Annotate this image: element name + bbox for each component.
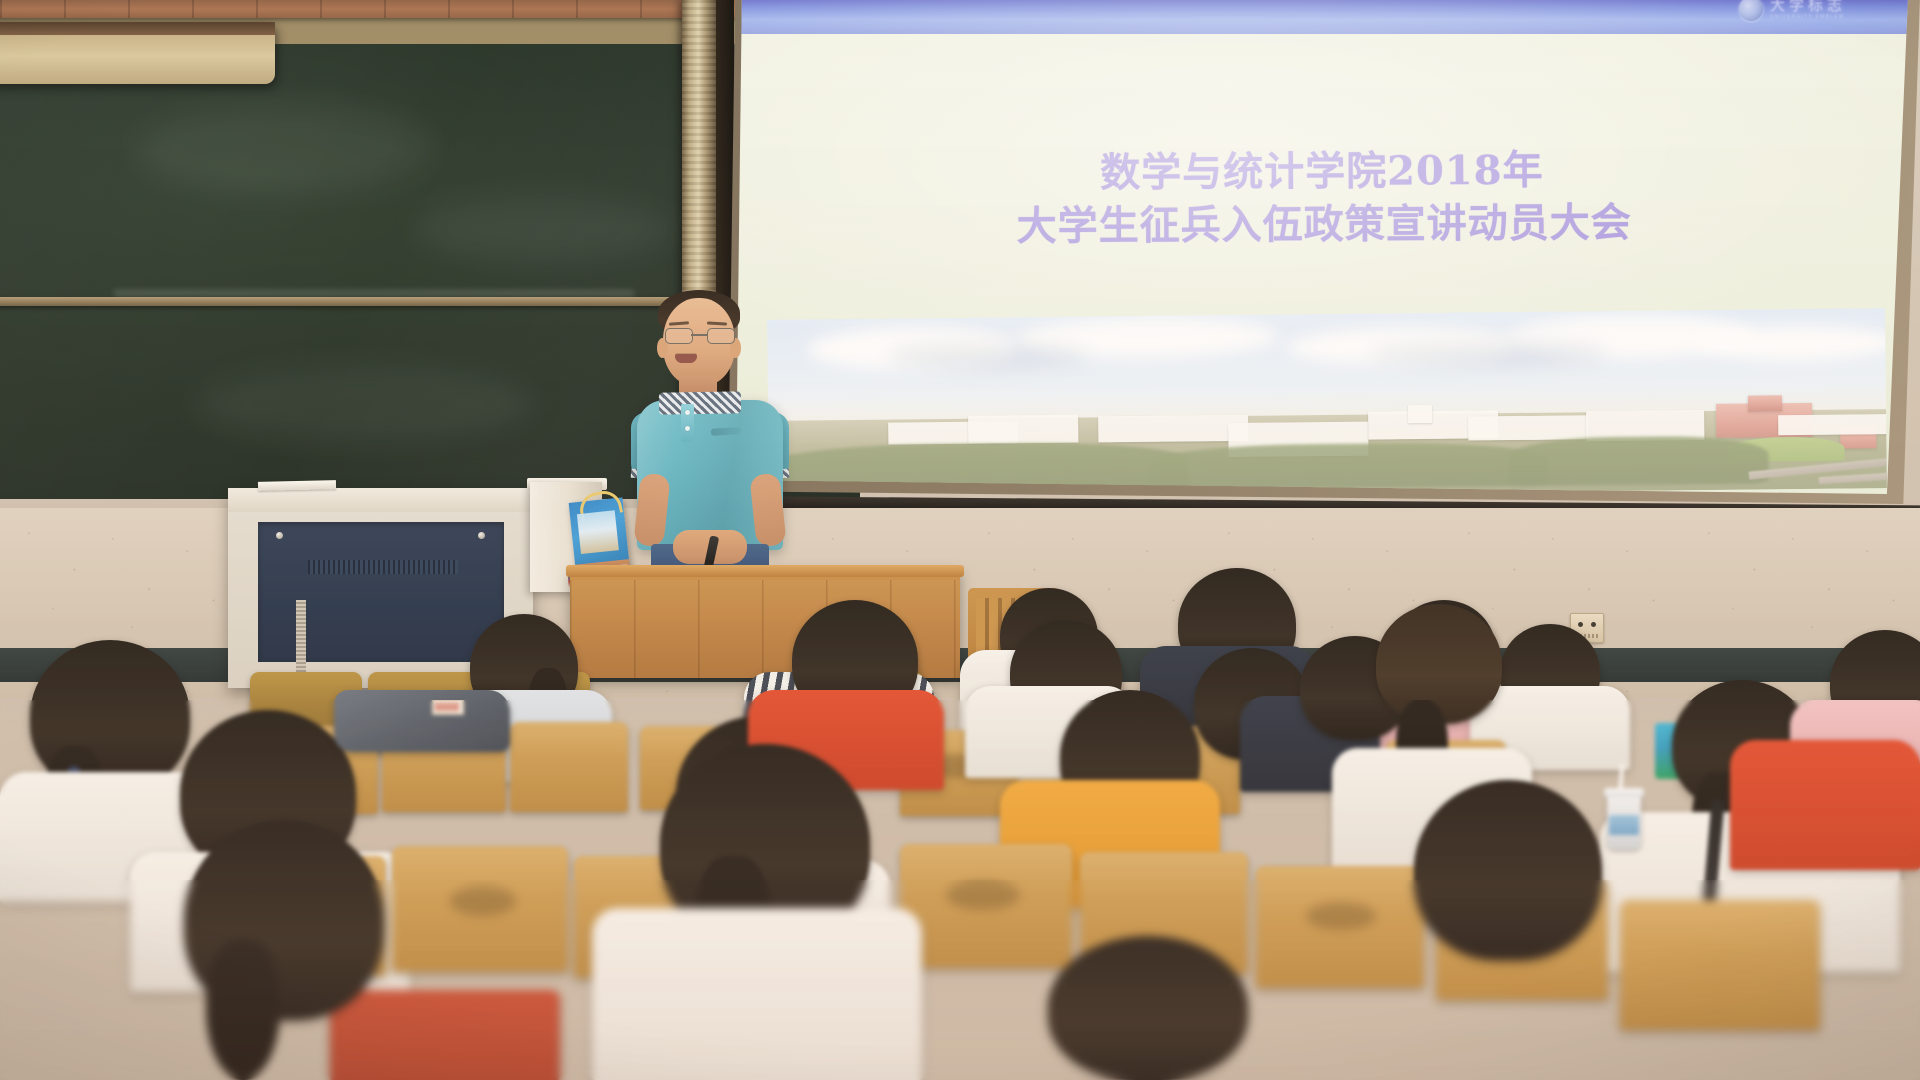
panel-screw [276,532,283,539]
presenter-mouth [675,354,697,363]
university-emblem-icon: 大学标志 UNIVERSITY EMBLEM [1739,0,1846,21]
lecture-seat [510,722,628,812]
chalk-smudge [414,194,674,264]
shirt-button [685,410,690,415]
student-head [1376,604,1502,724]
projection-screen: 大学标志 UNIVERSITY EMBLEM 数学与统计学院2018年 大学生征… [736,0,1908,494]
presenter-shirt-collar [659,391,741,414]
lecture-seat [392,846,568,972]
student-ponytail [206,940,280,1080]
light-fixture-shadow [0,22,275,35]
cabinet-front-panel [258,522,504,662]
eyeglasses-icon [665,328,733,342]
cabinet-vent-slots [308,560,458,574]
lecture-seat [330,990,560,1080]
cabinet-top-surface [228,488,533,512]
shirt-button [685,426,690,431]
emblem-en-text: UNIVERSITY EMBLEM [1770,15,1846,20]
panorama-projection-haze [767,308,1887,494]
emblem-mark-icon [1739,0,1763,21]
emblem-cn-text: 大学标志 [1770,0,1846,13]
student-torso [592,908,922,1080]
chalk-smudge [194,364,534,444]
cup-label [1609,815,1639,835]
bench-top-rail [566,565,964,577]
presenter [615,292,805,592]
gift-bag-print [577,510,619,554]
chalk-smudge [134,104,434,194]
eyeglass-lens [707,328,735,344]
drink-cup-with-straw [1607,793,1641,849]
slide-title: 数学与统计学院2018年 大学生征兵入伍政策宣讲动员大会 [736,142,1908,255]
ceiling-light-fixture [0,22,275,84]
panel-screw [478,532,485,539]
lecture-hall-photo: 大学标志 UNIVERSITY EMBLEM 数学与统计学院2018年 大学生征… [0,0,1920,1080]
eyeglass-bridge [691,334,707,336]
slide-campus-panorama [767,308,1887,494]
cup-lid [1604,788,1644,797]
jacket-brand-tag [432,700,464,715]
seat-wear-mark [450,886,516,916]
seat-wear-mark [946,880,1020,910]
seat-wear-mark [1306,902,1376,930]
slide-header-band: 大学标志 UNIVERSITY EMBLEM [736,0,1908,34]
emblem-text-block: 大学标志 UNIVERSITY EMBLEM [1770,0,1846,20]
lecture-seat [900,844,1072,968]
stack-of-papers [258,480,336,491]
lecture-seat [1256,866,1424,988]
outlet-socket-holes [1578,622,1596,628]
student-torso [1730,740,1920,870]
lecture-seat [1620,900,1820,1030]
slide-title-line-1: 数学与统计学院2018年 [736,142,1908,202]
grey-jacket-on-seat [334,690,510,752]
eyeglass-lens [665,328,693,344]
student-head [1414,780,1602,960]
slide-title-line-2: 大学生征兵入伍政策宣讲动员大会 [740,195,1908,255]
student-head [1048,936,1248,1080]
